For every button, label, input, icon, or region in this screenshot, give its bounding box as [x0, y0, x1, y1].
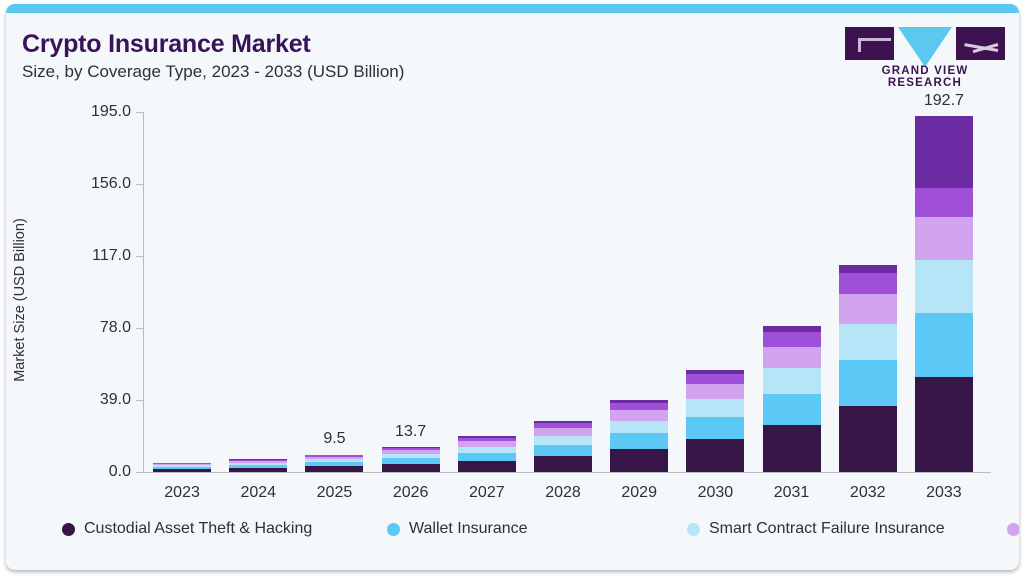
y-tick-mark [136, 112, 143, 113]
bar-segment[interactable] [839, 324, 897, 361]
bar-group[interactable]: 9.5 [305, 112, 363, 472]
bar-segment[interactable] [153, 469, 211, 472]
legend-item[interactable]: Wallet Insurance [387, 515, 687, 543]
bar-segment[interactable] [686, 417, 744, 439]
logo-wordmark: GRAND VIEW RESEARCH [845, 65, 1005, 89]
y-tick-label: 78.0 [11, 319, 131, 337]
bar-segment[interactable] [305, 466, 363, 472]
bar-segment[interactable] [610, 403, 668, 410]
bar-segment[interactable] [686, 399, 744, 417]
bar-segment[interactable] [534, 445, 592, 456]
bar-segment[interactable] [686, 384, 744, 399]
stacked-bar[interactable] [915, 116, 973, 472]
bar-group[interactable] [229, 112, 287, 472]
bar-segment[interactable] [839, 294, 897, 324]
bar-segment[interactable] [534, 436, 592, 445]
bar-segment[interactable] [915, 188, 973, 217]
y-tick-label: 39.0 [11, 391, 131, 409]
bar-value-label: 13.7 [351, 423, 471, 441]
bar-segment[interactable] [763, 394, 821, 426]
bar-group[interactable] [610, 112, 668, 472]
stacked-bar[interactable] [763, 326, 821, 472]
bar-segment[interactable] [915, 217, 973, 260]
stacked-bar[interactable] [305, 455, 363, 473]
legend-label: Custodial Asset Theft & Hacking [84, 520, 312, 538]
bar-segment[interactable] [915, 116, 973, 188]
bar-segment[interactable] [610, 433, 668, 449]
bar-segment[interactable] [610, 410, 668, 421]
y-tick-mark [136, 400, 143, 401]
legend-label: Wallet Insurance [409, 520, 528, 538]
bar-segment[interactable] [686, 439, 744, 472]
legend-color-swatch-icon [687, 523, 700, 536]
bar-segment[interactable] [534, 428, 592, 435]
stacked-bar[interactable] [229, 459, 287, 472]
stacked-bar[interactable] [382, 447, 440, 472]
bar-group[interactable]: 192.7 [915, 112, 973, 472]
stacked-bar[interactable] [153, 463, 211, 472]
legend-color-swatch-icon [62, 523, 75, 536]
plot-area: 9.513.7192.7 [144, 112, 982, 472]
bar-group[interactable] [534, 112, 592, 472]
bar-segment[interactable] [686, 374, 744, 384]
y-tick-label: 0.0 [11, 463, 131, 481]
x-axis-line [143, 472, 991, 473]
y-tick-mark [136, 472, 143, 473]
bar-group[interactable] [839, 112, 897, 472]
bar-segment[interactable] [229, 468, 287, 472]
y-tick-mark [136, 184, 143, 185]
y-tick-mark [136, 256, 143, 257]
bar-segment[interactable] [763, 347, 821, 368]
legend-color-swatch-icon [387, 523, 400, 536]
top-accent-bar [6, 4, 1019, 13]
bar-segment[interactable] [915, 260, 973, 312]
y-tick-label: 117.0 [11, 247, 131, 265]
bar-segment[interactable] [839, 406, 897, 472]
logo-triangle-icon [898, 27, 952, 67]
logo-marks [845, 27, 1005, 60]
brand-logo: GRAND VIEW RESEARCH [845, 27, 1005, 89]
legend-item[interactable]: Custodial Asset Theft & Hacking [62, 515, 387, 543]
bar-segment[interactable] [915, 377, 973, 472]
bar-segment[interactable] [763, 425, 821, 472]
y-tick-label: 156.0 [11, 175, 131, 193]
bar-segment[interactable] [458, 453, 516, 461]
bar-group[interactable]: 13.7 [382, 112, 440, 472]
bar-segment[interactable] [458, 461, 516, 472]
legend-item[interactable]: Smart Contract Failure Insurance [687, 515, 1007, 543]
legend: Custodial Asset Theft & HackingWallet In… [62, 515, 1012, 543]
legend-color-swatch-icon [1007, 523, 1019, 536]
stacked-bar[interactable] [458, 436, 516, 472]
bar-group[interactable] [763, 112, 821, 472]
stacked-bar[interactable] [686, 370, 744, 472]
y-tick-label: 195.0 [11, 103, 131, 121]
logo-left-block-icon [845, 27, 894, 60]
bar-segment[interactable] [839, 360, 897, 405]
x-tick-label: 2033 [884, 484, 1004, 502]
stacked-bar[interactable] [534, 421, 592, 472]
bar-segment[interactable] [382, 464, 440, 472]
chart-card: Crypto Insurance Market Size, by Coverag… [6, 4, 1019, 570]
bar-segment[interactable] [610, 449, 668, 472]
bar-segment[interactable] [763, 332, 821, 346]
bar-segment[interactable] [839, 265, 897, 274]
stacked-bar[interactable] [610, 400, 668, 472]
bar-segment[interactable] [610, 421, 668, 434]
bar-value-label: 192.7 [884, 92, 1004, 110]
bar-group[interactable] [686, 112, 744, 472]
bar-group[interactable] [458, 112, 516, 472]
y-tick-mark [136, 328, 143, 329]
stacked-bar[interactable] [839, 265, 897, 472]
bar-segment[interactable] [915, 313, 973, 378]
legend-item[interactable]: Protocol / DeFi Risk Insurance [1007, 515, 1019, 543]
y-axis-label: Market Size (USD Billion) [12, 120, 28, 480]
bar-segment[interactable] [534, 456, 592, 472]
bar-segment[interactable] [839, 273, 897, 293]
logo-right-block-icon [956, 27, 1005, 60]
bar-group[interactable] [153, 112, 211, 472]
bar-segment[interactable] [763, 368, 821, 394]
legend-label: Smart Contract Failure Insurance [709, 520, 945, 538]
